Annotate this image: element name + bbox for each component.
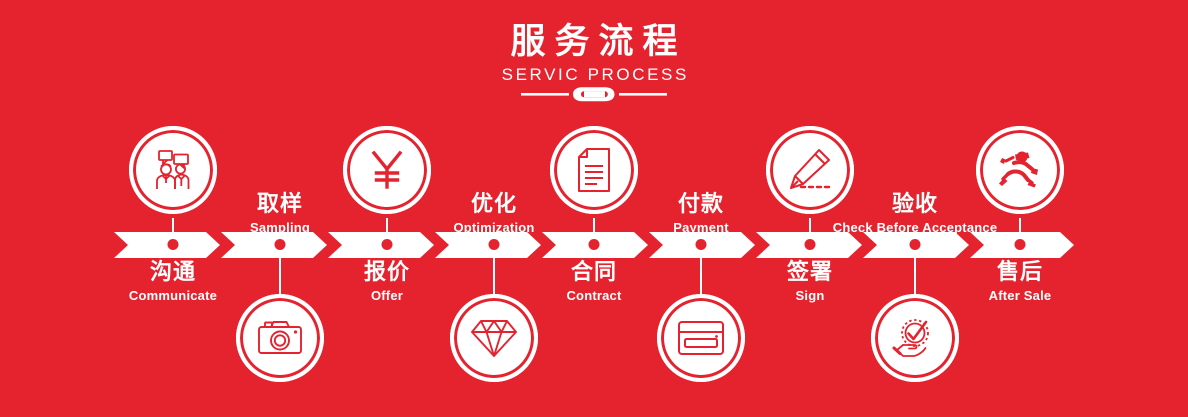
timeline-dot: [382, 239, 393, 250]
timeline-dot: [168, 239, 179, 250]
step-label: 售后 After Sale: [989, 258, 1052, 304]
timeline-step-payment[interactable]: 付款 Payment: [641, 0, 761, 417]
step-label-cn: 报价: [364, 258, 410, 286]
step-label-cn: 合同: [566, 258, 621, 286]
timeline-step-offer[interactable]: 报价 Offer: [327, 0, 447, 417]
timeline-dot: [489, 239, 500, 250]
timeline-dot: [1015, 239, 1026, 250]
step-label-en: Sign: [787, 287, 833, 305]
step-label-en: Contract: [566, 287, 621, 305]
step-label-en: After Sale: [989, 287, 1052, 305]
timeline-step-communicate[interactable]: 沟通 Communicate: [113, 0, 233, 417]
connector-stem: [493, 245, 495, 295]
step-label-en: Optimization: [453, 219, 534, 237]
timeline-dot: [805, 239, 816, 250]
timeline-dot: [589, 239, 600, 250]
connector-stem: [279, 245, 281, 295]
step-label-cn: 优化: [453, 190, 534, 218]
step-label-en: Communicate: [129, 287, 217, 305]
document-icon[interactable]: [550, 126, 638, 214]
timeline-step-after-sale[interactable]: 售后 After Sale: [960, 0, 1080, 417]
step-label-cn: 付款: [673, 190, 729, 218]
step-label-en: Sampling: [250, 219, 310, 237]
people-speech-bubbles-icon[interactable]: [129, 126, 217, 214]
step-label-en: Payment: [673, 219, 729, 237]
step-label: 合同 Contract: [566, 258, 621, 304]
credit-card-icon[interactable]: [657, 294, 745, 382]
connector-stem: [914, 245, 916, 295]
yen-currency-icon[interactable]: [343, 126, 431, 214]
step-label-cn: 沟通: [129, 258, 217, 286]
delivery-runner-icon[interactable]: [976, 126, 1064, 214]
step-label: 沟通 Communicate: [129, 258, 217, 304]
timeline-dot: [275, 239, 286, 250]
step-label: 报价 Offer: [364, 258, 410, 304]
hand-checkmark-icon[interactable]: [871, 294, 959, 382]
step-label: 取样 Sampling: [250, 190, 310, 236]
step-label-en: Offer: [364, 287, 410, 305]
timeline-step-sampling[interactable]: 取样 Sampling: [220, 0, 340, 417]
connector-stem: [700, 245, 702, 295]
step-label-cn: 取样: [250, 190, 310, 218]
diamond-icon[interactable]: [450, 294, 538, 382]
step-label: 付款 Payment: [673, 190, 729, 236]
timeline-dot: [696, 239, 707, 250]
step-label: 签署 Sign: [787, 258, 833, 304]
step-label-cn: 签署: [787, 258, 833, 286]
step-label-cn: 售后: [989, 258, 1052, 286]
timeline-dot: [910, 239, 921, 250]
timeline-step-contract[interactable]: 合同 Contract: [534, 0, 654, 417]
camera-icon[interactable]: [236, 294, 324, 382]
service-process-infographic: 服务流程 SERVIC PROCESS: [0, 0, 1188, 417]
timeline-step-check-before-acceptance[interactable]: 验收 Check Before Acceptance: [855, 0, 975, 417]
step-label: 优化 Optimization: [453, 190, 534, 236]
